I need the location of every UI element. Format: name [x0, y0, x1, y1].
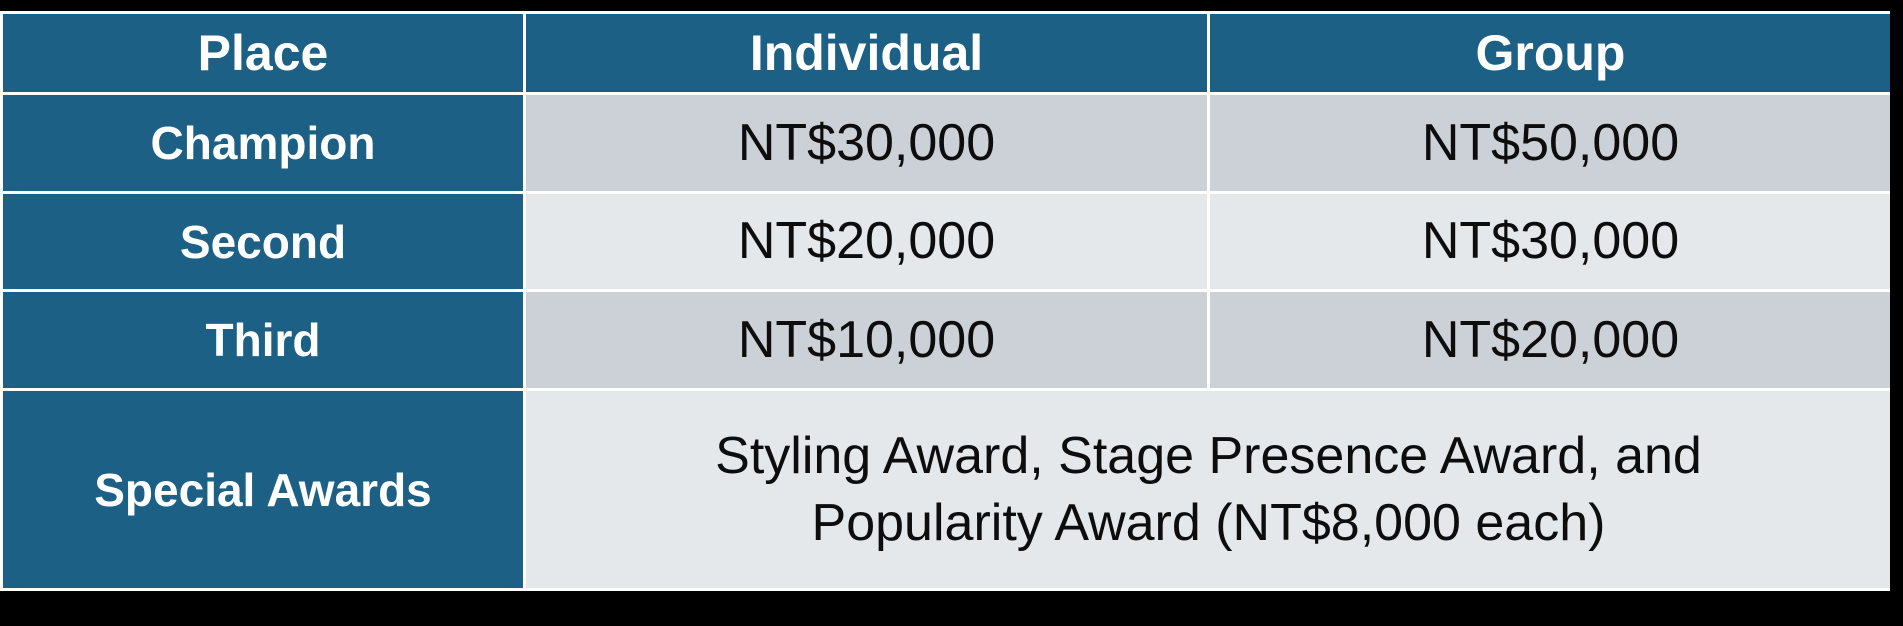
letterbox-top — [0, 0, 1903, 11]
letterbox-right — [1890, 0, 1903, 626]
cell-champion-individual: NT$30,000 — [525, 94, 1209, 193]
cell-second-individual: NT$20,000 — [525, 192, 1209, 291]
column-header-group: Group — [1209, 13, 1893, 94]
slide-canvas: Place Individual Group Champion NT$30,00… — [0, 0, 1903, 626]
special-awards-line-2: Popularity Award (NT$8,000 each) — [536, 490, 1881, 557]
row-label-special-awards: Special Awards — [2, 390, 525, 590]
letterbox-bottom — [0, 591, 1903, 626]
table-header-row: Place Individual Group — [2, 13, 1893, 94]
cell-champion-group: NT$50,000 — [1209, 94, 1893, 193]
column-header-individual: Individual — [525, 13, 1209, 94]
table-row: Third NT$10,000 NT$20,000 — [2, 291, 1893, 390]
prize-table: Place Individual Group Champion NT$30,00… — [0, 11, 1894, 591]
cell-third-group: NT$20,000 — [1209, 291, 1893, 390]
row-label-third: Third — [2, 291, 525, 390]
row-label-second: Second — [2, 192, 525, 291]
column-header-place: Place — [2, 13, 525, 94]
table-row: Champion NT$30,000 NT$50,000 — [2, 94, 1893, 193]
special-awards-line-1: Styling Award, Stage Presence Award, and — [536, 423, 1881, 490]
table-row: Second NT$20,000 NT$30,000 — [2, 192, 1893, 291]
cell-special-awards-description: Styling Award, Stage Presence Award, and… — [525, 390, 1893, 590]
table-row-special: Special Awards Styling Award, Stage Pres… — [2, 390, 1893, 590]
row-label-champion: Champion — [2, 94, 525, 193]
table-header: Place Individual Group — [2, 13, 1893, 94]
cell-second-group: NT$30,000 — [1209, 192, 1893, 291]
special-awards-text: Styling Award, Stage Presence Award, and… — [526, 423, 1891, 556]
cell-third-individual: NT$10,000 — [525, 291, 1209, 390]
table-body: Champion NT$30,000 NT$50,000 Second NT$2… — [2, 94, 1893, 590]
